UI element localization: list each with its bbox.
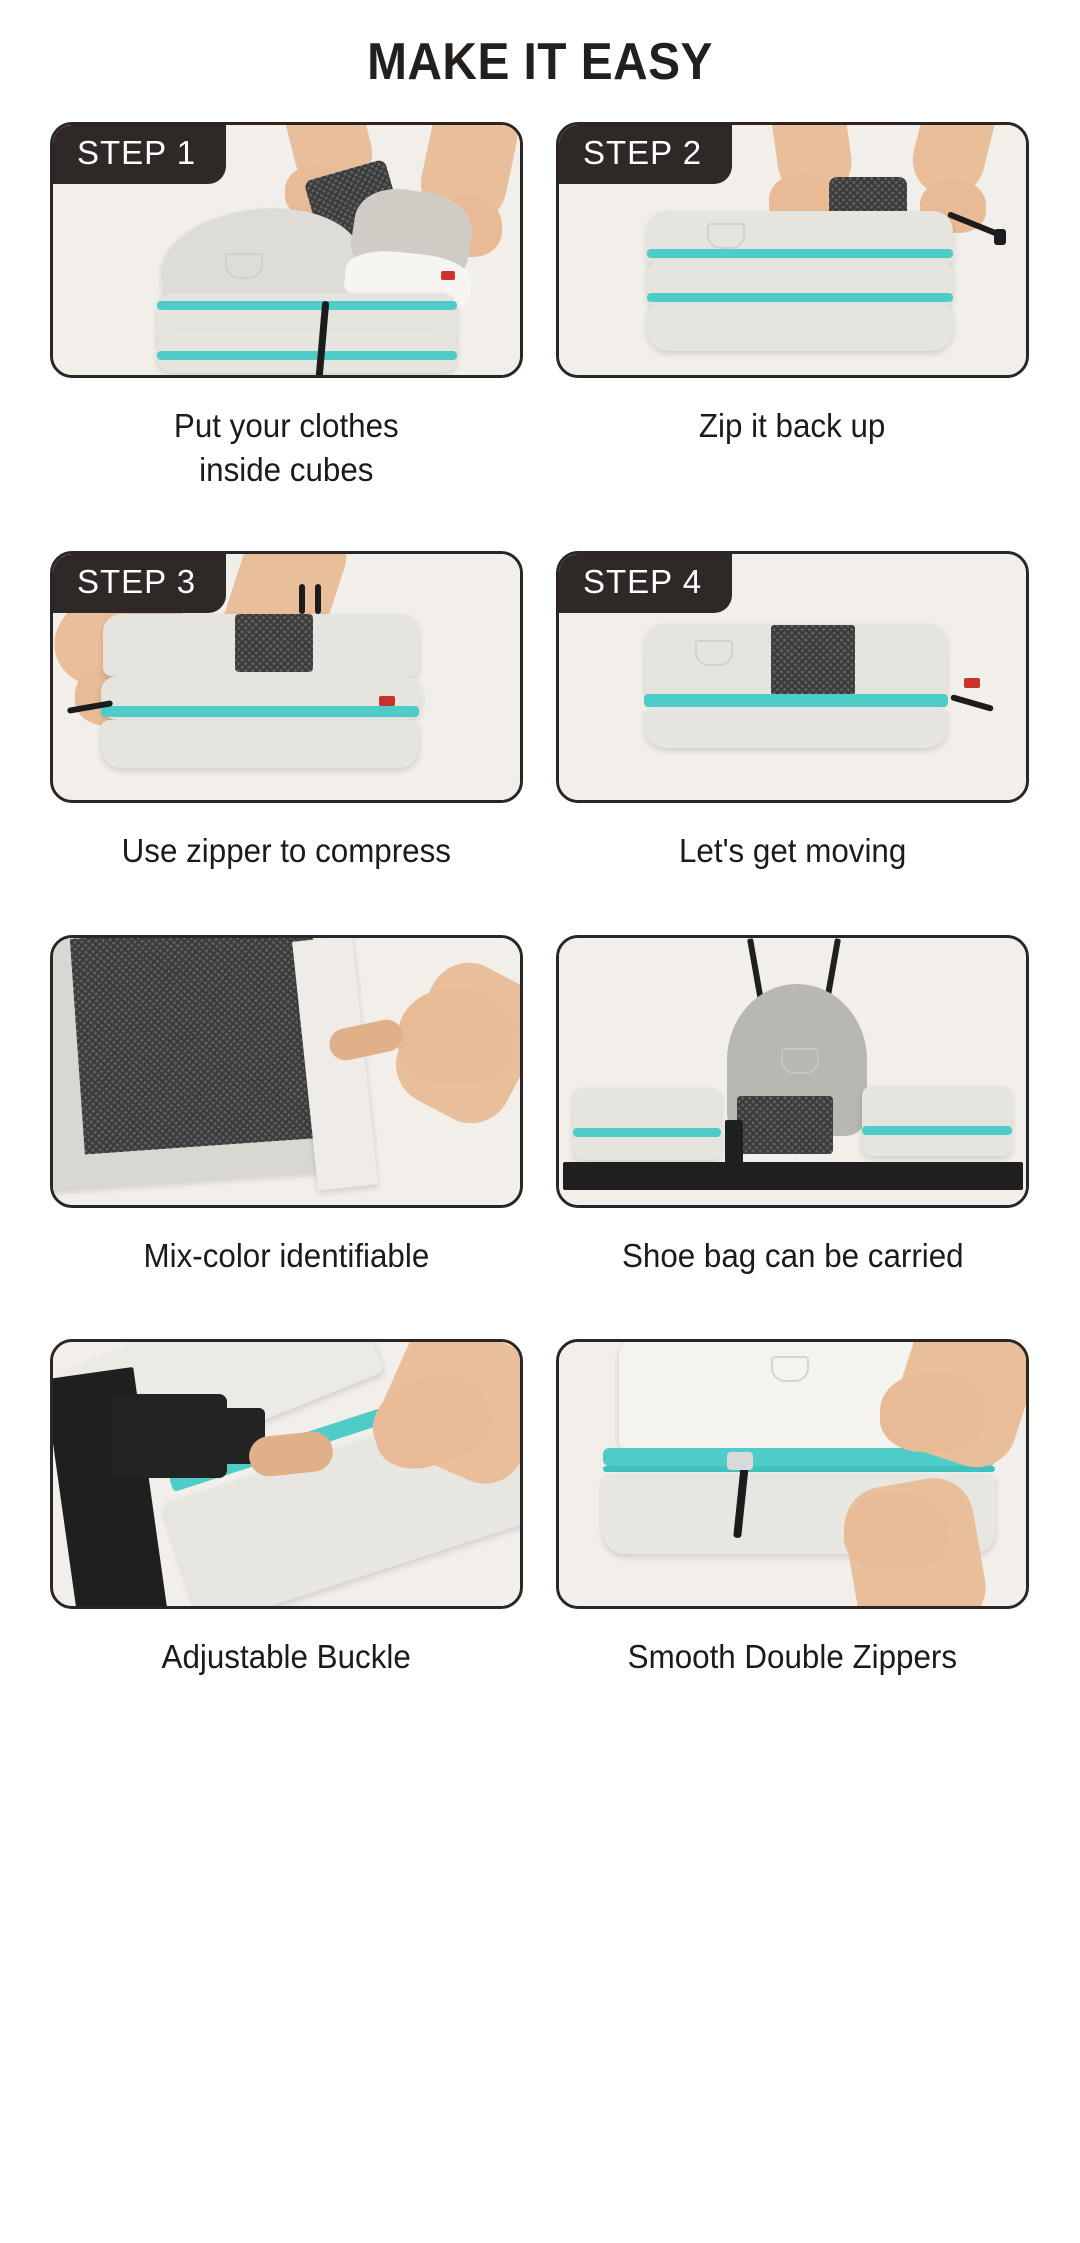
card-caption-step-4: Let's get moving <box>679 829 906 873</box>
product-photo-buckle <box>53 1342 520 1606</box>
image-card-zippers[interactable] <box>556 1339 1029 1609</box>
card-cell-mix-color: Mix-color identifiable <box>50 935 523 1278</box>
card-caption-zippers: Smooth Double Zippers <box>628 1635 957 1679</box>
image-card-mix-color[interactable] <box>50 935 523 1208</box>
card-cell-shoe-bag: Shoe bag can be carried <box>556 935 1029 1278</box>
image-card-shoe-bag[interactable] <box>556 935 1029 1208</box>
card-caption-step-1: Put your clothes inside cubes <box>174 404 399 491</box>
feature-grid: STEP 1 Put your clothes inside cubes <box>0 122 1080 1679</box>
card-cell-step-3: STEP 3 Use zipper to compress <box>50 551 523 873</box>
card-cell-buckle: Adjustable Buckle <box>50 1339 523 1679</box>
step-badge-3: STEP 3 <box>50 551 226 613</box>
product-photo-shoe-bag <box>559 938 1026 1205</box>
step-badge-4: STEP 4 <box>556 551 732 613</box>
card-cell-step-1: STEP 1 Put your clothes inside cubes <box>50 122 523 491</box>
card-caption-buckle: Adjustable Buckle <box>162 1635 411 1679</box>
step-badge-2: STEP 2 <box>556 122 732 184</box>
card-cell-step-2: STEP 2 Zip it back up <box>556 122 1029 448</box>
card-caption-step-2: Zip it back up <box>699 404 885 448</box>
image-card-step-4[interactable]: STEP 4 <box>556 551 1029 803</box>
card-caption-step-3: Use zipper to compress <box>122 829 451 873</box>
card-cell-step-4: STEP 4 Let's get moving <box>556 551 1029 873</box>
steps-row-1: STEP 1 Put your clothes inside cubes <box>50 122 1030 491</box>
features-row-1: Mix-color identifiable Shoe ba <box>50 935 1030 1278</box>
features-row-2: Adjustable Buckle Smooth Doubl <box>50 1339 1030 1679</box>
page-title: MAKE IT EASY <box>43 0 1037 88</box>
card-caption-shoe-bag: Shoe bag can be carried <box>622 1234 964 1278</box>
image-card-step-2[interactable]: STEP 2 <box>556 122 1029 378</box>
image-card-step-3[interactable]: STEP 3 <box>50 551 523 803</box>
product-photo-zippers <box>559 1342 1026 1606</box>
step-badge-1: STEP 1 <box>50 122 226 184</box>
card-cell-zippers: Smooth Double Zippers <box>556 1339 1029 1679</box>
image-card-buckle[interactable] <box>50 1339 523 1609</box>
product-photo-mix-color <box>53 938 520 1205</box>
steps-row-2: STEP 3 Use zipper to compress STEP 4 Let… <box>50 551 1030 873</box>
card-caption-mix-color: Mix-color identifiable <box>144 1234 430 1278</box>
image-card-step-1[interactable]: STEP 1 <box>50 122 523 378</box>
